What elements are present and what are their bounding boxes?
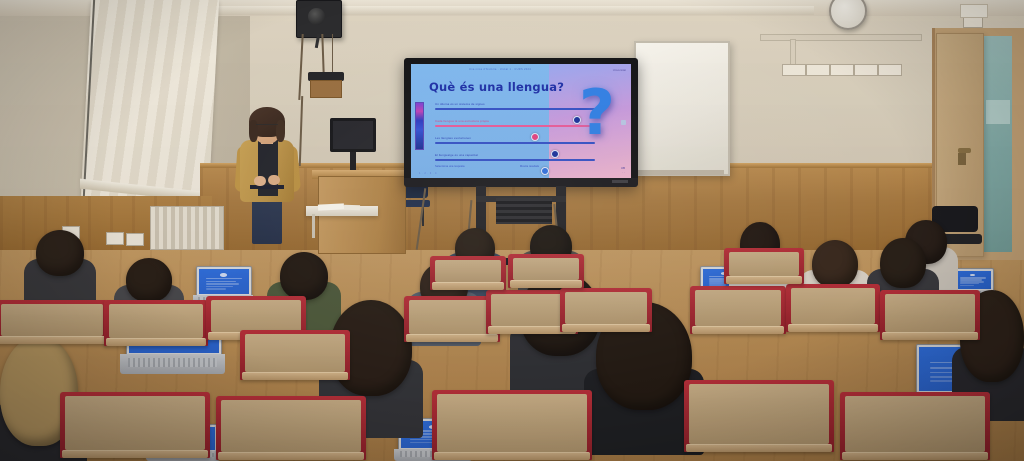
slide-row-label: Cada llengua té una estructura pròpia: [435, 119, 595, 123]
display-chin: [404, 178, 638, 187]
slide-row-label: El llenguatge és una capacitat: [435, 153, 595, 157]
laptop-screen-content: [955, 271, 991, 289]
student-head: [280, 252, 328, 300]
power-outlet: [854, 64, 878, 76]
desk-surface: [432, 282, 504, 290]
laptop-screen-textline: [206, 283, 239, 285]
door-lock[interactable]: [958, 153, 966, 165]
slide: Una mica d'història · Unitat 1 · CURS 20…: [411, 64, 631, 178]
power-outlet: [878, 64, 902, 76]
power-socket: [126, 233, 144, 246]
speaker-cone-icon: [308, 8, 325, 25]
laptop-screen-textline: [206, 288, 226, 290]
presenter-glasses: [256, 124, 278, 130]
slide-foot-left: Selecciona una resposta: [435, 165, 464, 168]
desk-surface: [510, 280, 582, 288]
door-sign: [960, 4, 988, 18]
slide-badge: UB · ·: [621, 167, 625, 174]
display-side-button[interactable]: [621, 120, 626, 125]
slide-row-track[interactable]: [435, 142, 595, 144]
power-outlet: [806, 64, 830, 76]
lecture-hall-photo: Una mica d'història · Unitat 1 · CURS 20…: [0, 0, 1024, 461]
corridor-beyond-door: [982, 36, 1012, 252]
seat-back-pad: [221, 400, 361, 452]
student-head: [880, 238, 926, 288]
student-head: [812, 240, 858, 288]
monitor-screen: [333, 121, 373, 149]
presenter-belt: [250, 185, 284, 189]
seat-back-pad: [845, 396, 985, 452]
seat-back-pad: [1, 304, 103, 336]
electrical-conduit: [760, 34, 922, 41]
slide-row: Cada llengua té una estructura pròpia: [435, 119, 595, 127]
laptop-screen[interactable]: [952, 268, 994, 292]
desk-surface: [726, 276, 802, 284]
laptop-keys[interactable]: [128, 358, 216, 367]
paper-sheet: [344, 205, 360, 211]
laptop-keyboard-base[interactable]: [120, 354, 225, 374]
desk-surface: [106, 338, 206, 346]
desk-surface: [62, 450, 208, 458]
laptop-screen-textline: [206, 278, 242, 280]
whiteboard: [634, 41, 730, 176]
seat-back-pad: [437, 394, 587, 452]
presentation-display[interactable]: Una mica d'història · Unitat 1 · CURS 20…: [411, 64, 631, 178]
power-outlet: [782, 64, 806, 76]
slide-row-track[interactable]: [435, 108, 595, 110]
radiator: [150, 206, 224, 250]
slide-row-label: Les llengües evolucionen: [435, 136, 595, 140]
desk-surface: [406, 334, 498, 342]
desk-surface: [434, 452, 590, 460]
seat-back-pad: [109, 304, 203, 338]
desk-surface: [686, 444, 832, 452]
slide-brand: Universitat: [613, 68, 626, 72]
desk-surface: [562, 324, 650, 332]
seat-back-pad: [791, 288, 875, 324]
slide-row-track[interactable]: [435, 159, 595, 161]
laptop-screen-textline: [206, 281, 236, 283]
laptop-screen-logo: [970, 274, 975, 277]
slide-row: El llenguatge és una capacitat: [435, 153, 595, 161]
laptop-screen-textline: [206, 286, 233, 288]
slide-row-knob[interactable]: [541, 167, 549, 175]
desk-surface: [692, 326, 784, 334]
slide-row-label: Un idioma és un sistema de signes: [435, 102, 595, 106]
projection-blind: [81, 0, 219, 196]
seat-back-pad: [695, 290, 781, 326]
slide-page-indicator: 1 · 2 · 3 · 4: [419, 172, 437, 175]
laptop-screen-content: [199, 269, 249, 294]
seat-back-pad: [729, 252, 799, 276]
seat-back-pad: [409, 300, 495, 334]
seat-back-pad: [245, 334, 345, 372]
seat-back-pad: [65, 396, 205, 450]
slide-header-text: Una mica d'història · Unitat 1 · CURS 20…: [469, 68, 531, 71]
slide-foot-right: Mostra resultats: [520, 165, 539, 168]
power-outlet: [830, 64, 854, 76]
slide-badge-line2: · ·: [622, 170, 625, 174]
desk-surface: [882, 332, 978, 340]
corridor-panel: [986, 100, 1010, 124]
slide-row: Les llengües evolucionen: [435, 136, 595, 144]
seat-back-pad: [211, 300, 301, 332]
slide-row-track[interactable]: [435, 125, 595, 127]
seat-back-pad: [513, 258, 579, 280]
slide-title: Què és una llengua?: [429, 80, 564, 94]
monitor-stand: [350, 152, 356, 172]
conduit-drop: [790, 39, 796, 67]
laptop-screen[interactable]: [196, 266, 252, 297]
display-logo: [612, 180, 628, 183]
display-stand-shelf: [496, 198, 552, 224]
color-swatch-strip: [415, 102, 424, 150]
presenter-hand: [268, 175, 280, 185]
wall-fixture: [963, 17, 983, 28]
lectern-monitor: [330, 118, 376, 152]
desk-surface: [218, 452, 364, 460]
laptop-screen-textline: [960, 285, 974, 287]
cable: [332, 34, 333, 76]
wall-shelf: [310, 80, 342, 98]
power-socket: [106, 232, 124, 245]
laptop-screen-logo: [220, 273, 227, 277]
seat-back-pad: [885, 294, 975, 332]
student-head: [36, 230, 84, 276]
table-leg: [312, 214, 315, 238]
presenter-hand: [254, 176, 266, 186]
desk-surface: [0, 336, 106, 344]
seat-back-pad: [565, 292, 647, 324]
desk-surface: [242, 372, 348, 380]
seat-back-pad: [435, 260, 501, 282]
slide-row: Un idioma és un sistema de signes: [435, 102, 595, 110]
seat-back-pad: [689, 384, 829, 444]
student-head: [126, 258, 172, 302]
question-mark-icon: ?: [579, 82, 615, 144]
desk-surface: [788, 324, 878, 332]
whiteboard-tray: [636, 170, 724, 175]
desk-surface: [842, 452, 988, 460]
